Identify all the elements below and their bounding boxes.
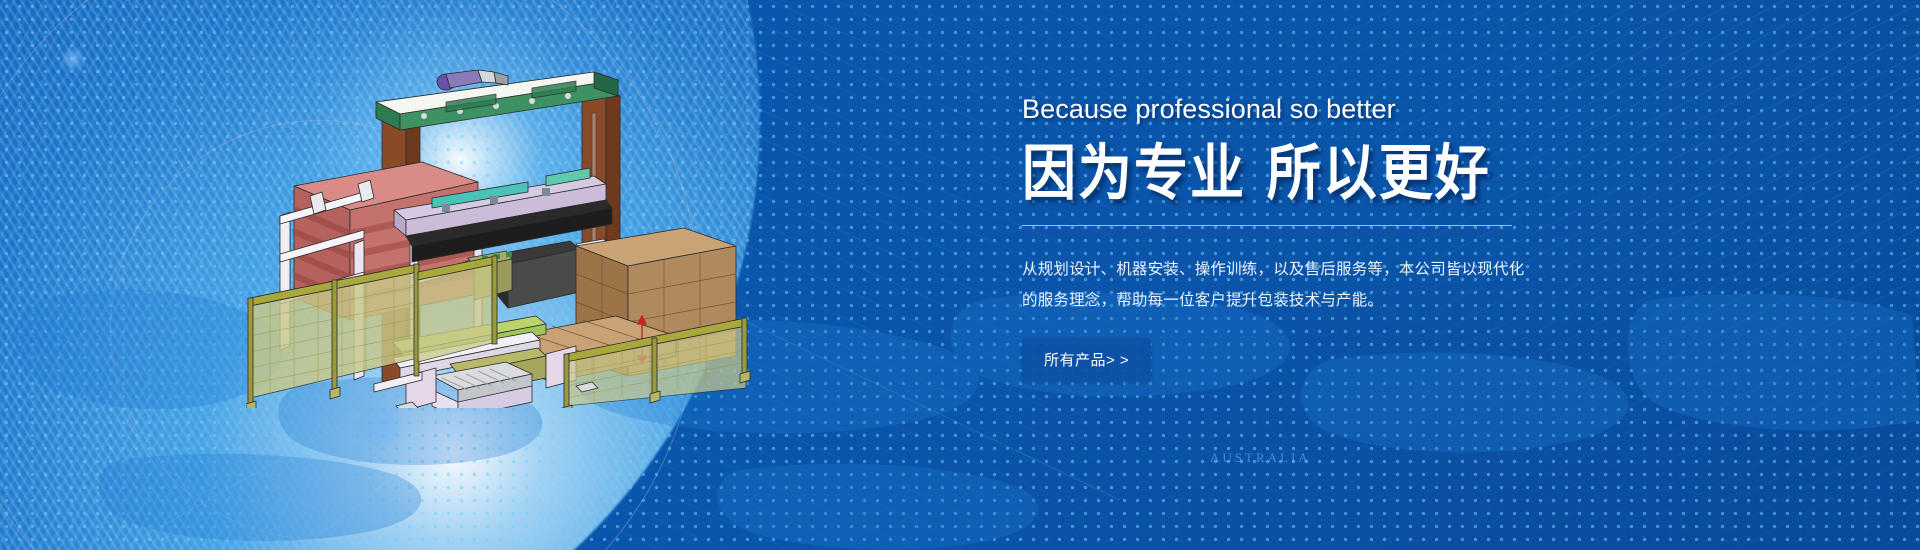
gantry-top-beam (376, 72, 618, 130)
carton-stack-right (576, 228, 736, 376)
safety-fence-right (562, 318, 750, 408)
roller-conveyor (432, 362, 532, 408)
pallet-stack (294, 162, 478, 320)
elevation-arrow (638, 316, 646, 364)
carton-layer-front (492, 316, 676, 382)
continent-silhouettes (0, 0, 1920, 550)
conveyor-lines (392, 316, 546, 396)
headline-divider (1022, 225, 1512, 226)
gripper-head (468, 239, 610, 308)
map-region-label: AUSTRALIA (1210, 450, 1311, 466)
magazine-frame (280, 192, 482, 380)
dot-matrix-world-map (0, 0, 1920, 550)
hero-eyebrow: Because professional so better (1022, 96, 1582, 123)
traverse-rail (394, 168, 612, 262)
lens-flare-ring-inner (110, 120, 530, 540)
hero-banner: AUSTRALIA (0, 0, 1920, 550)
machine-base-frame (374, 346, 576, 408)
hero-description-line-1: 从规划设计、机器安装、操作训练，以及售后服务等，本公司皆以现代化 (1022, 254, 1542, 285)
earth-cloud-texture (0, 0, 760, 550)
hero-description-line-2: 的服务理念，帮助每一位客户提升包装技术与产能。 (1022, 285, 1542, 316)
earth-atmosphere-rim (0, 0, 760, 550)
safety-fence-mid (418, 256, 497, 362)
safety-fence-left (246, 264, 419, 408)
hero-headline: 因为专业 所以更好 (1022, 141, 1582, 206)
magazine-grippers (310, 180, 440, 224)
lens-flare-ring-outer (0, 0, 700, 550)
lens-flare-dot-b (358, 402, 404, 448)
perspective-grid-lines (0, 250, 1200, 550)
all-products-button[interactable]: 所有产品> > (1022, 338, 1151, 382)
machine-feet (396, 382, 598, 408)
lens-flare-dot-a (60, 46, 86, 72)
hero-copy: Because professional so better 因为专业 所以更好… (1022, 96, 1582, 382)
gantry-column-right (582, 89, 620, 366)
gantry-column-left (382, 103, 420, 384)
beam-drive-motor (437, 70, 508, 90)
sun-glow (200, 0, 720, 420)
earth-body (0, 0, 760, 550)
hero-description: 从规划设计、机器安装、操作训练，以及售后服务等，本公司皆以现代化 的服务理念，帮… (1022, 254, 1542, 316)
palletizing-robot-illustration (246, 58, 766, 408)
earth-globe-graphic (0, 0, 760, 550)
